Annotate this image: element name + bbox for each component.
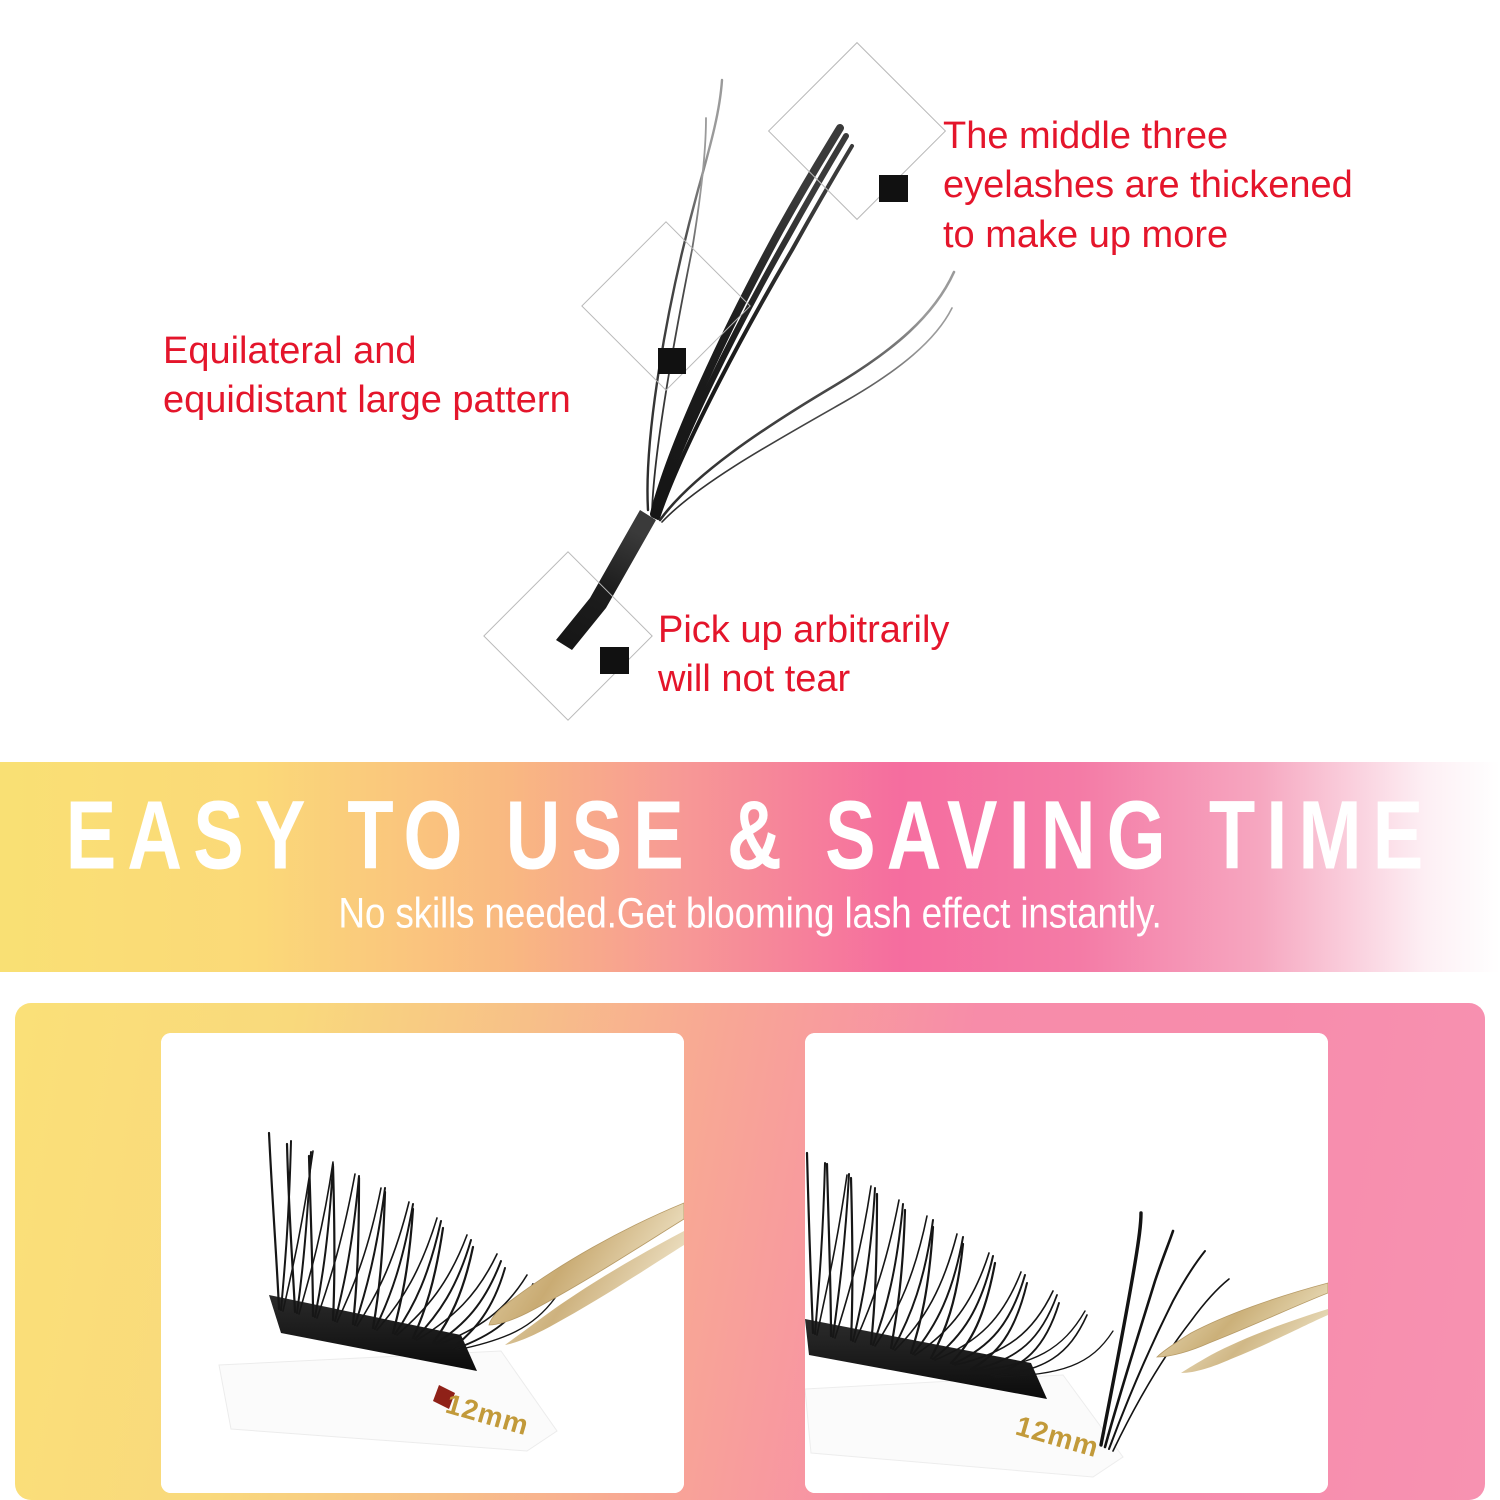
headline-banner: EASY TO USE & SAVING TIME No skills need… <box>0 762 1500 972</box>
banner-title: EASY TO USE & SAVING TIME <box>0 780 1500 891</box>
feature-callout-section: Equilateral and equidistant large patter… <box>0 0 1500 752</box>
callout-text-middle-three: The middle three eyelashes are thickened… <box>943 112 1353 260</box>
callout-text-pick-up: Pick up arbitrarily will not tear <box>658 606 949 705</box>
gallery-photo-lash-tray-fan-pickup[interactable]: 12mm <box>805 1033 1328 1493</box>
callout-text-equilateral: Equilateral and equidistant large patter… <box>163 327 571 426</box>
lash-tray-tweezers-image <box>161 1033 684 1493</box>
banner-subtitle: No skills needed.Get blooming lash effec… <box>0 890 1500 938</box>
callout-marker-square-equilateral <box>658 348 686 374</box>
gallery-photo-lash-tray-tweezers[interactable]: 12mm <box>161 1033 684 1493</box>
callout-marker-square-pick-up <box>600 647 629 674</box>
photo-gallery-panel: 12mm <box>15 1003 1485 1500</box>
product-infographic: Equilateral and equidistant large patter… <box>0 0 1500 1500</box>
callout-marker-square-middle-three <box>879 175 908 202</box>
